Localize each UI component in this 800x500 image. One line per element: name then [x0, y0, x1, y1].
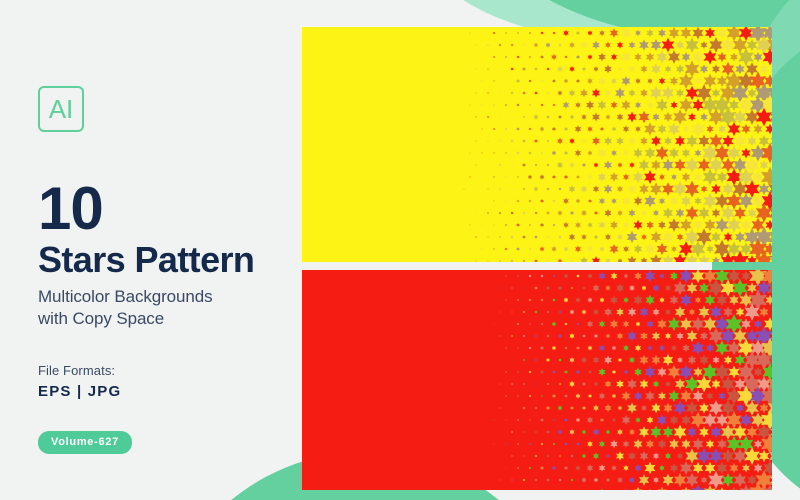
ai-format-badge: AI [38, 86, 84, 132]
preview-panel-red[interactable] [302, 270, 772, 490]
ai-badge-label: AI [49, 96, 74, 122]
file-formats-label: File Formats: [38, 363, 288, 378]
item-count: 10 [38, 180, 288, 237]
volume-badge: Volume-627 [38, 431, 132, 454]
poster-canvas: AI 10 Stars Pattern Multicolor Backgroun… [0, 0, 800, 500]
page-subtitle-line-2: with Copy Space [38, 308, 288, 330]
file-formats-block: File Formats: EPS | JPG [38, 363, 288, 400]
star-pattern-yellow [302, 27, 772, 262]
page-subtitle: Multicolor Backgrounds with Copy Space [38, 286, 288, 330]
info-column: AI 10 Stars Pattern Multicolor Backgroun… [38, 86, 288, 454]
page-title: Stars Pattern [38, 241, 288, 279]
preview-panel-yellow[interactable] [302, 27, 772, 262]
file-formats-value: EPS | JPG [38, 383, 288, 400]
star-pattern-red [302, 270, 772, 490]
page-subtitle-line-1: Multicolor Backgrounds [38, 286, 288, 308]
